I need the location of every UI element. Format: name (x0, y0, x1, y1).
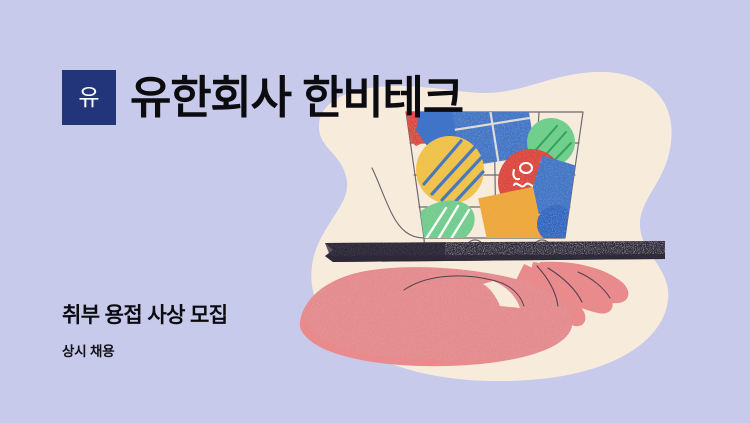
shopping-basket-frame (372, 112, 583, 256)
basket-wheels (466, 240, 551, 254)
job-headline: 취부 용접 사상 모집 (62, 303, 227, 329)
gift-blue-sphere (537, 205, 575, 243)
serving-tray (325, 241, 670, 262)
recruitment-copy: 취부 용접 사상 모집 상시 채용 (62, 303, 227, 361)
company-name: 유한회사 한비테크 (130, 75, 463, 120)
job-subline: 상시 채용 (62, 343, 227, 361)
gift-yellow-striped-circle (416, 136, 484, 204)
company-initial-icon: 유 (78, 86, 99, 109)
gift-blue-square-tilted (526, 155, 594, 224)
gift-orange-square (478, 187, 544, 250)
gift-red-doodle-circle (498, 149, 564, 215)
gift-bow-ribbon (489, 68, 518, 96)
recruitment-banner: 유 유한회사 한비테크 취부 용접 사상 모집 상시 채용 (0, 0, 750, 423)
brand-row: 유 유한회사 한비테크 (62, 70, 463, 125)
gift-green-striped-circle (527, 118, 575, 166)
company-logo-badge: 유 (62, 70, 116, 125)
gift-green-striped-blob (416, 200, 475, 247)
hand-illustration (300, 262, 629, 367)
